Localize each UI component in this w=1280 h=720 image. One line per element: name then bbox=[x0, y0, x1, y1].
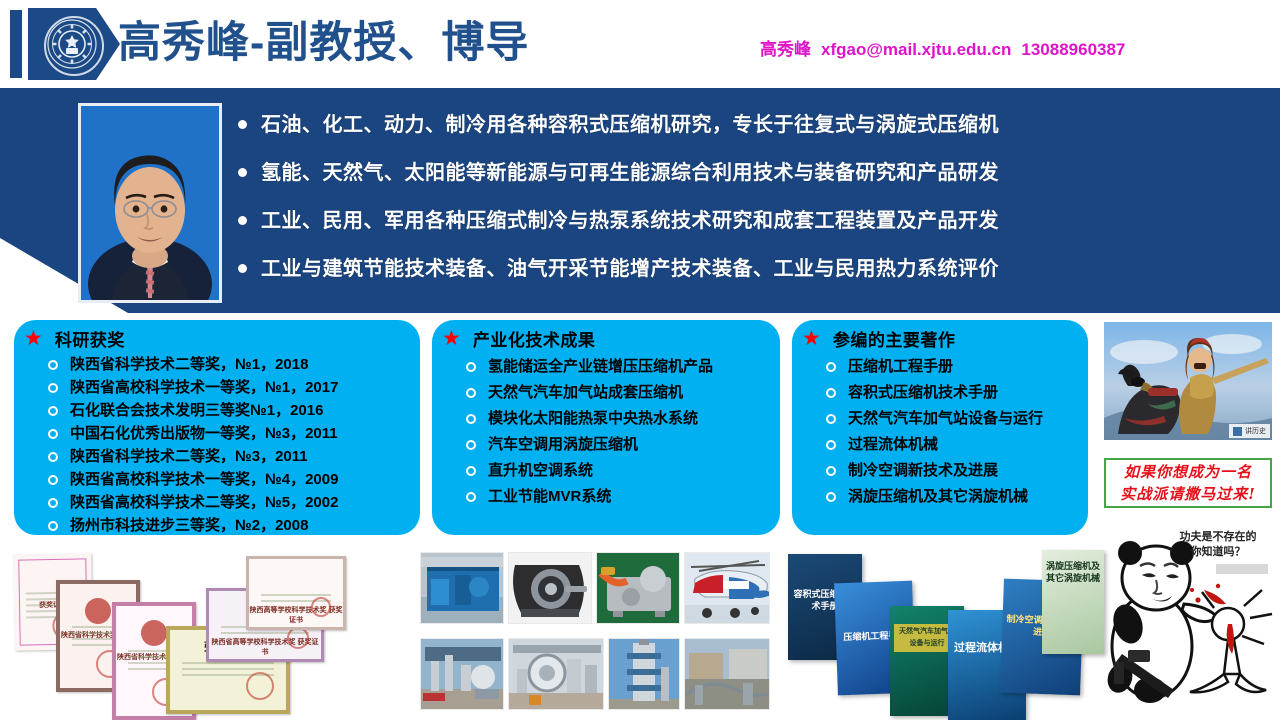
list-item: 汽车空调用涡旋压缩机 bbox=[466, 432, 780, 457]
list-item-label: 氢能储运全产业链增压压缩机产品 bbox=[488, 354, 713, 379]
list-item-label: 中国石化优秀出版物一等奖，№3，2011 bbox=[70, 423, 338, 445]
machine-photo bbox=[508, 552, 592, 624]
circle-bullet-icon bbox=[826, 440, 836, 450]
slogan-line-1: 如果你想成为一名 bbox=[1124, 461, 1252, 483]
list-item-label: 陕西省高校科学技术一等奖，№1，2017 bbox=[70, 377, 338, 399]
list-item: 中国石化优秀出版物一等奖，№3，2011 bbox=[48, 423, 420, 445]
slogan-line-2: 实战派请撒马过来! bbox=[1120, 483, 1256, 505]
panda-caption-line-1: 功夫是不存在的 bbox=[1162, 530, 1274, 545]
panel-research-awards: ★ 科研获奖 陕西省科学技术二等奖，№1，2018 陕西省高校科学技术一等奖，№… bbox=[14, 320, 420, 535]
list-item-label: 扬州市科技进步三等奖，№2，2008 bbox=[70, 515, 308, 535]
circle-bullet-icon bbox=[826, 466, 836, 476]
header-logo-badge bbox=[28, 8, 120, 80]
awards-list: 陕西省科学技术二等奖，№1，2018 陕西省高校科学技术一等奖，№1，2017 … bbox=[14, 354, 420, 535]
star-icon: ★ bbox=[24, 328, 43, 349]
watermark-label: 讲历史 bbox=[1245, 426, 1266, 436]
circle-bullet-icon bbox=[826, 492, 836, 502]
list-item-label: 陕西省科学技术二等奖，№3，2011 bbox=[70, 446, 308, 468]
contact-email[interactable]: xfgao@mail.xjtu.edu.cn bbox=[821, 40, 1011, 59]
circle-bullet-icon bbox=[826, 362, 836, 372]
list-item: 天然气汽车加气站设备与运行 bbox=[826, 406, 1088, 431]
circle-bullet-icon bbox=[826, 388, 836, 398]
circle-bullet-icon bbox=[826, 414, 836, 424]
machine-photo-gallery bbox=[418, 550, 773, 718]
list-item: 陕西省高校科学技术一等奖，№4，2009 bbox=[48, 469, 420, 491]
machine-photo bbox=[608, 638, 680, 710]
contact-info: 高秀峰xfgao@mail.xjtu.edu.cn13088960387 bbox=[760, 35, 1135, 60]
bullet-item: 工业与建筑节能技术装备、油气开采节能增产技术装备、工业与民用热力系统评价 bbox=[238, 248, 1268, 296]
list-item-label: 天然气汽车加气站设备与运行 bbox=[848, 406, 1043, 431]
list-item-label: 制冷空调新技术及进展 bbox=[848, 458, 998, 483]
machine-photo bbox=[684, 552, 770, 624]
list-item-label: 陕西省高校科学技术二等奖，№5，2002 bbox=[70, 492, 338, 514]
watermark: 讲历史 bbox=[1229, 424, 1270, 438]
circle-bullet-icon bbox=[466, 362, 476, 372]
circle-bullet-icon bbox=[48, 383, 58, 393]
list-item: 过程流体机械 bbox=[826, 432, 1088, 457]
slogan-box: 如果你想成为一名 实战派请撒马过来! bbox=[1104, 458, 1272, 508]
warrior-illustration: 讲历史 bbox=[1104, 322, 1272, 440]
slide-root: 高秀峰-副教授、博导 高秀峰xfgao@mail.xjtu.edu.cn1308… bbox=[0, 0, 1280, 720]
circle-bullet-icon bbox=[48, 429, 58, 439]
circle-bullet-icon bbox=[466, 440, 476, 450]
bullet-dot-icon bbox=[238, 216, 247, 225]
star-icon: ★ bbox=[442, 328, 461, 349]
expertise-bullet-list: 石油、化工、动力、制冷用各种容积式压缩机研究，专长于往复式与涡旋式压缩机 氢能、… bbox=[238, 104, 1268, 304]
circle-bullet-icon bbox=[48, 498, 58, 508]
list-item-label: 容积式压缩机技术手册 bbox=[848, 380, 998, 405]
bullet-text: 工业与建筑节能技术装备、油气开采节能增产技术装备、工业与民用热力系统评价 bbox=[261, 248, 999, 290]
machine-photo bbox=[684, 638, 770, 710]
bullet-item: 氢能、天然气、太阳能等新能源与可再生能源综合利用技术与装备研究和产品研发 bbox=[238, 152, 1268, 200]
list-item-label: 陕西省科学技术二等奖，№1，2018 bbox=[70, 354, 308, 376]
contact-phone: 13088960387 bbox=[1021, 40, 1125, 59]
circle-bullet-icon bbox=[48, 360, 58, 370]
panel-title: 参编的主要著作 bbox=[833, 326, 956, 351]
book-cover: 涡旋压缩机及其它涡旋机械 bbox=[1042, 550, 1104, 654]
page-title: 高秀峰-副教授、博导 bbox=[118, 12, 529, 74]
bullet-dot-icon bbox=[238, 168, 247, 177]
industrialization-list: 氢能储运全产业链增压压缩机产品 天然气汽车加气站成套压缩机 模块化太阳能热泵中央… bbox=[432, 354, 780, 509]
panel-title: 产业化技术成果 bbox=[473, 326, 596, 351]
list-item-label: 石化联合会技术发明三等奖№1，2016 bbox=[70, 400, 323, 422]
list-item: 制冷空调新技术及进展 bbox=[826, 458, 1088, 483]
list-item: 扬州市科技进步三等奖，№2，2008 bbox=[48, 515, 420, 535]
certificate-image: 陕西高等学校科学技术奖 获奖证书 bbox=[246, 556, 346, 630]
machine-photo bbox=[596, 552, 680, 624]
list-item: 氢能储运全产业链增压压缩机产品 bbox=[466, 354, 780, 379]
circle-bullet-icon bbox=[466, 414, 476, 424]
bullet-text: 氢能、天然气、太阳能等新能源与可再生能源综合利用技术与装备研究和产品研发 bbox=[261, 152, 999, 194]
list-item: 容积式压缩机技术手册 bbox=[826, 380, 1088, 405]
circle-bullet-icon bbox=[48, 406, 58, 416]
bullet-dot-icon bbox=[238, 120, 247, 129]
header-accent-bar bbox=[10, 10, 22, 78]
circle-bullet-icon bbox=[48, 452, 58, 462]
machine-photo bbox=[420, 638, 504, 710]
page-header: 高秀峰-副教授、博导 高秀峰xfgao@mail.xjtu.edu.cn1308… bbox=[0, 0, 1280, 88]
contact-name: 高秀峰 bbox=[760, 40, 811, 59]
certificates-gallery: 获奖证书 陕西省科学技术奖 奖 状 陕西省科学技术奖 证 书 荣誉证书 陕西省高… bbox=[0, 548, 415, 720]
book-title: 涡旋压缩机及其它涡旋机械 bbox=[1046, 560, 1100, 584]
list-item-label: 涡旋压缩机及其它涡旋机械 bbox=[848, 484, 1028, 509]
list-item-label: 工业节能MVR系统 bbox=[488, 484, 611, 509]
circle-bullet-icon bbox=[466, 466, 476, 476]
bullet-item: 石油、化工、动力、制冷用各种容积式压缩机研究，专长于往复式与涡旋式压缩机 bbox=[238, 104, 1268, 152]
list-item: 陕西省高校科学技术一等奖，№1，2017 bbox=[48, 377, 420, 399]
circle-bullet-icon bbox=[466, 492, 476, 502]
xjtu-university-emblem-icon bbox=[44, 16, 104, 76]
list-item: 模块化太阳能热泵中央热水系统 bbox=[466, 406, 780, 431]
panda-caption-line-2: 你知道吗？ bbox=[1162, 545, 1274, 560]
circle-bullet-icon bbox=[48, 521, 58, 531]
list-item: 陕西省高校科学技术二等奖，№5，2002 bbox=[48, 492, 420, 514]
panda-meme-caption: 功夫是不存在的 你知道吗？ bbox=[1162, 530, 1274, 560]
list-item: 天然气汽车加气站成套压缩机 bbox=[466, 380, 780, 405]
panda-meme-image: 功夫是不存在的 你知道吗？ bbox=[1104, 528, 1276, 718]
bullet-text: 工业、民用、军用各种压缩式制冷与热泵系统技术研究和成套工程装置及产品开发 bbox=[261, 200, 999, 242]
list-item-label: 汽车空调用涡旋压缩机 bbox=[488, 432, 638, 457]
list-item: 直升机空调系统 bbox=[466, 458, 780, 483]
machine-photo bbox=[508, 638, 604, 710]
panel-header: ★ 参编的主要著作 bbox=[792, 320, 1088, 353]
list-item-label: 天然气汽车加气站成套压缩机 bbox=[488, 380, 683, 405]
panel-title: 科研获奖 bbox=[55, 326, 125, 351]
list-item-label: 模块化太阳能热泵中央热水系统 bbox=[488, 406, 698, 431]
list-item: 压缩机工程手册 bbox=[826, 354, 1088, 379]
list-item-label: 压缩机工程手册 bbox=[848, 354, 953, 379]
list-item: 涡旋压缩机及其它涡旋机械 bbox=[826, 484, 1088, 509]
star-icon: ★ bbox=[802, 328, 821, 349]
list-item-label: 过程流体机械 bbox=[848, 432, 938, 457]
list-item-label: 直升机空调系统 bbox=[488, 458, 593, 483]
bullet-item: 工业、民用、军用各种压缩式制冷与热泵系统技术研究和成套工程装置及产品开发 bbox=[238, 200, 1268, 248]
circle-bullet-icon bbox=[48, 475, 58, 485]
book-cover-gallery: 容积式压缩机技术手册 压缩机工程手册 天然气汽车加气站设备与运行 过程流体机械 … bbox=[780, 548, 1105, 720]
panel-header: ★ 科研获奖 bbox=[14, 320, 420, 353]
list-item: 石化联合会技术发明三等奖№1，2016 bbox=[48, 400, 420, 422]
bullet-dot-icon bbox=[238, 264, 247, 273]
bullet-text: 石油、化工、动力、制冷用各种容积式压缩机研究，专长于往复式与涡旋式压缩机 bbox=[261, 104, 999, 146]
list-item-label: 陕西省高校科学技术一等奖，№4，2009 bbox=[70, 469, 338, 491]
panel-header: ★ 产业化技术成果 bbox=[432, 320, 780, 353]
list-item: 陕西省科学技术二等奖，№1，2018 bbox=[48, 354, 420, 376]
watermark-logo-icon bbox=[1233, 427, 1242, 436]
panel-industrialization-results: ★ 产业化技术成果 氢能储运全产业链增压压缩机产品 天然气汽车加气站成套压缩机 … bbox=[432, 320, 780, 535]
books-list: 压缩机工程手册 容积式压缩机技术手册 天然气汽车加气站设备与运行 过程流体机械 … bbox=[792, 354, 1088, 509]
list-item: 工业节能MVR系统 bbox=[466, 484, 780, 509]
machine-photo bbox=[420, 552, 504, 624]
panel-authored-books: ★ 参编的主要著作 压缩机工程手册 容积式压缩机技术手册 天然气汽车加气站设备与… bbox=[792, 320, 1088, 535]
list-item: 陕西省科学技术二等奖，№3，2011 bbox=[48, 446, 420, 468]
avatar bbox=[78, 103, 222, 303]
circle-bullet-icon bbox=[466, 388, 476, 398]
